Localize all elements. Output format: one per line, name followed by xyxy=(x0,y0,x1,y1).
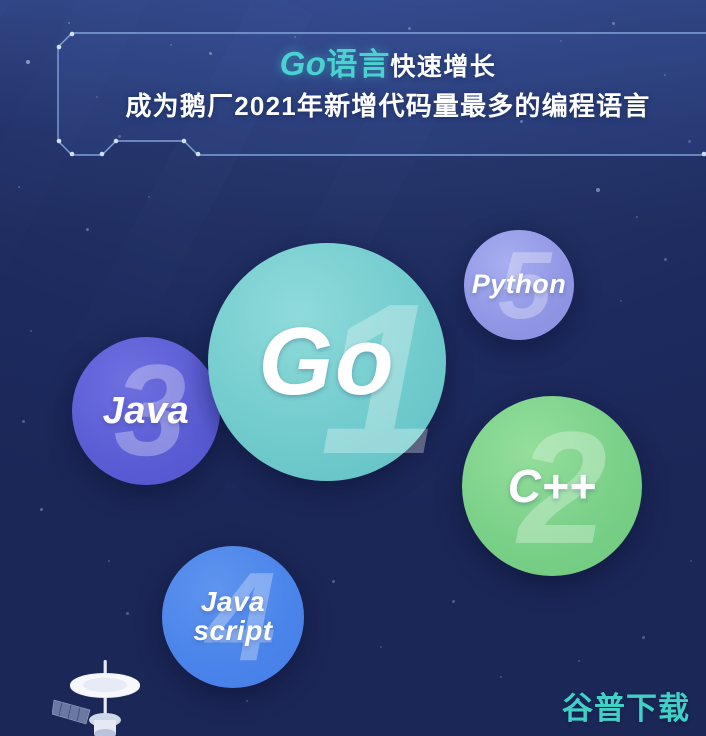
bubble-cpp-label: C++ xyxy=(508,463,596,510)
infographic-poster: Go语言快速增长 成为鹅厂2021年新增代码量最多的编程语言 3 Java 5 … xyxy=(0,0,706,736)
bubble-cpp[interactable]: 2 C++ xyxy=(462,396,642,576)
bubble-go[interactable]: 1 Go xyxy=(208,243,446,481)
bubble-javascript-label-line1: Java xyxy=(201,586,265,617)
bubble-go-label: Go xyxy=(258,313,395,411)
language-bubble-chart: 3 Java 5 Python 2 C++ 4 Javascript 1 Go xyxy=(0,0,706,736)
bubble-java-label: Java xyxy=(103,392,190,431)
bubble-javascript[interactable]: 4 Javascript xyxy=(162,546,304,688)
bubble-java[interactable]: 3 Java xyxy=(72,337,220,485)
bubble-python-label: Python xyxy=(472,271,567,299)
bubble-javascript-label: Javascript xyxy=(193,588,272,645)
bubble-python[interactable]: 5 Python xyxy=(464,230,574,340)
watermark: 谷普下载 xyxy=(562,683,690,728)
bubble-javascript-label-line2: script xyxy=(193,615,272,646)
